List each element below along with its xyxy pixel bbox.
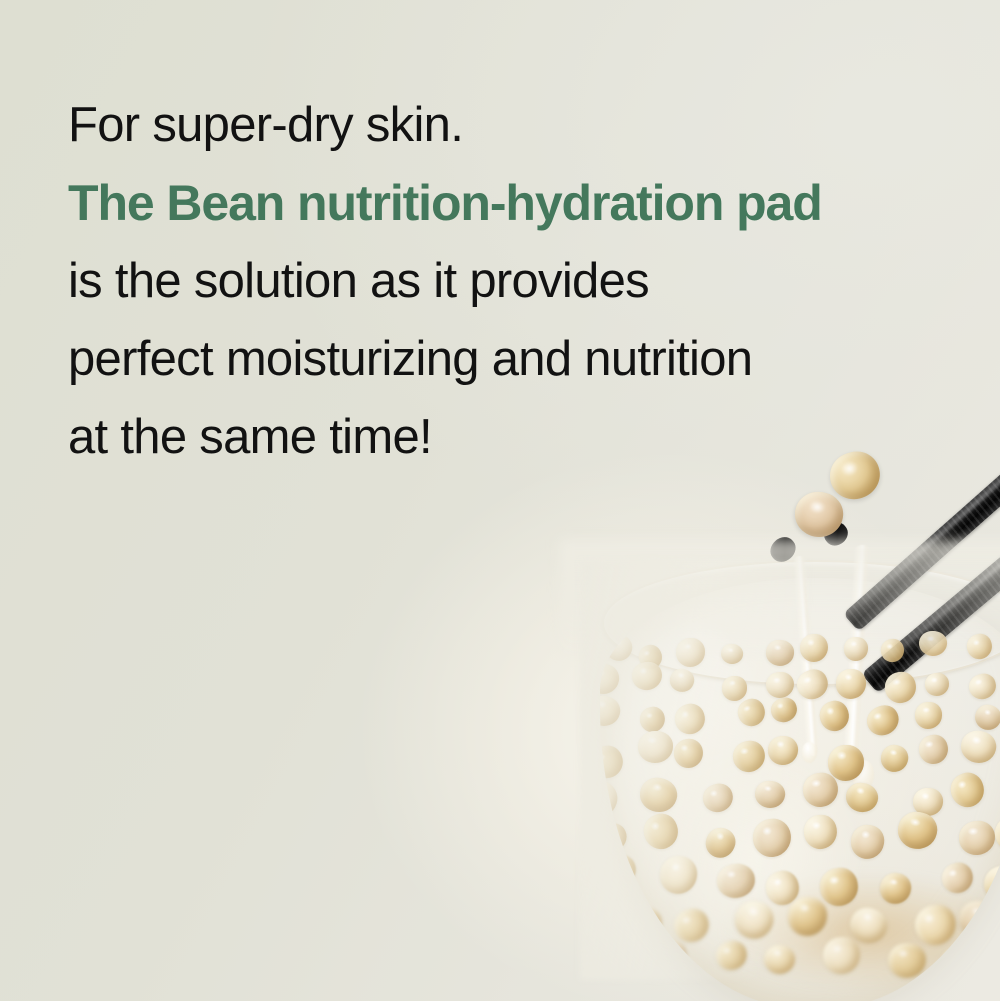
soybean	[863, 701, 903, 740]
soybean	[768, 694, 800, 724]
soybean	[801, 813, 839, 852]
soybean	[712, 937, 750, 973]
soybean	[600, 819, 631, 857]
headline-line-2-accent: The Bean nutrition-hydration pad	[68, 164, 948, 242]
soybean	[878, 742, 911, 775]
soybean	[799, 633, 828, 662]
soybean	[935, 940, 984, 988]
soybean	[600, 775, 622, 823]
soybean	[753, 779, 787, 811]
soybean	[822, 936, 862, 976]
soybean	[730, 895, 780, 945]
soybean	[715, 862, 756, 900]
bean-specular-highlight	[809, 499, 826, 514]
soybean	[767, 735, 799, 766]
headline-line-5: at the same time!	[68, 398, 948, 476]
soybean	[966, 671, 999, 702]
soybean	[600, 693, 624, 730]
soybean	[916, 732, 951, 767]
soybean	[600, 741, 629, 783]
soybean	[730, 738, 767, 775]
soybean	[938, 859, 976, 897]
soybean	[722, 676, 748, 701]
soybean	[877, 871, 913, 907]
soybean	[699, 780, 735, 815]
soybean	[637, 704, 667, 735]
soybean	[955, 897, 1000, 942]
soybean	[894, 808, 940, 853]
soybean	[639, 810, 683, 854]
product-banner: For super-dry skin. The Bean nutrition-h…	[0, 0, 1000, 1001]
soybean	[843, 779, 882, 816]
soybean	[958, 820, 997, 857]
soybean	[971, 701, 1000, 735]
headline-block: For super-dry skin. The Bean nutrition-h…	[68, 86, 948, 476]
soybean	[638, 731, 674, 763]
headline-line-4: perfect moisturizing and nutrition	[68, 320, 948, 398]
soybean	[702, 823, 740, 861]
soybean	[648, 937, 689, 975]
soybean	[671, 700, 710, 738]
soybean	[914, 701, 942, 729]
soybean	[849, 822, 887, 861]
soybean	[925, 672, 950, 696]
headline-line-3: is the solution as it provides	[68, 242, 948, 320]
headline-line-1: For super-dry skin.	[68, 86, 948, 164]
soybean	[676, 638, 705, 667]
liquid-droplet	[802, 742, 817, 763]
soybean	[887, 943, 926, 979]
soybean	[626, 906, 664, 941]
soybean	[910, 900, 961, 950]
soybean	[658, 854, 699, 896]
soybean	[672, 738, 704, 770]
soybean	[981, 862, 1000, 906]
soybean	[817, 865, 861, 909]
soybean	[958, 727, 1000, 767]
soybean	[762, 942, 797, 976]
soybean	[635, 774, 680, 817]
soybean	[600, 851, 640, 890]
soybean	[751, 817, 793, 859]
soybean	[946, 768, 989, 812]
soybean	[600, 662, 620, 697]
soybean	[766, 672, 794, 699]
